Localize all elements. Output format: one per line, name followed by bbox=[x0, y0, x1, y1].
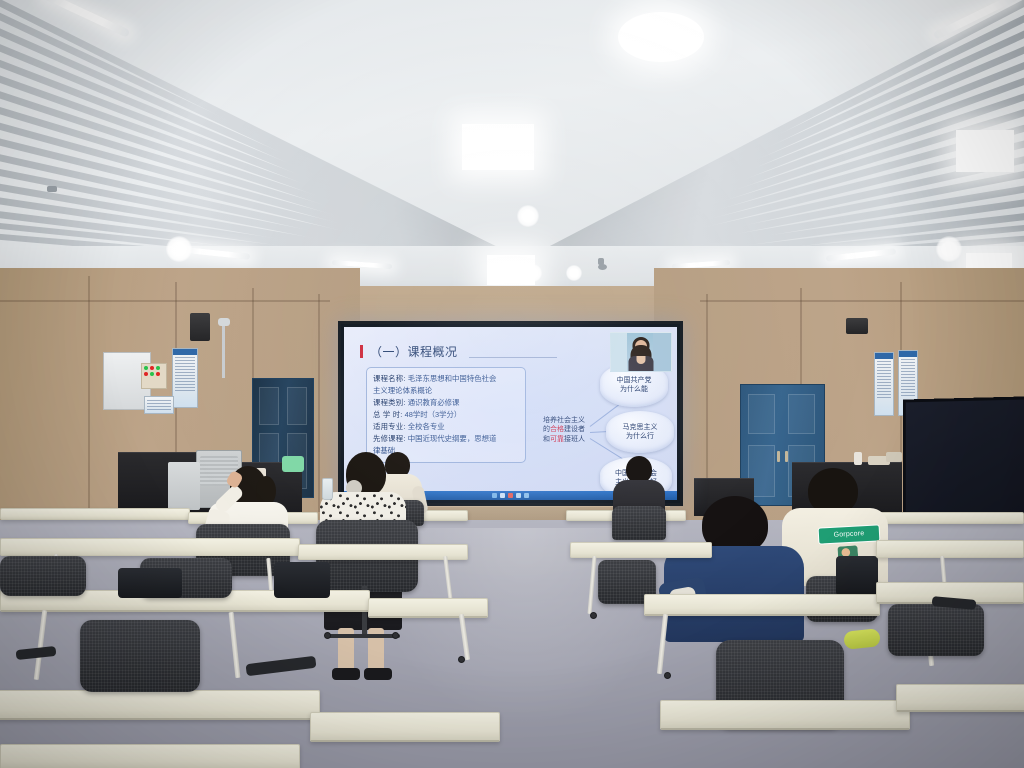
info-value: 毛泽东思想和中国特色社会 bbox=[408, 374, 497, 383]
folding-training-desk bbox=[0, 690, 320, 720]
folding-training-desk bbox=[0, 508, 190, 520]
person-head bbox=[626, 456, 652, 483]
mindmap-center-line: 和可靠接班人 bbox=[535, 435, 593, 444]
taskbar-icon[interactable] bbox=[516, 493, 521, 498]
pip-background-right bbox=[653, 333, 671, 371]
info-row: 先修课程: 中国近现代史纲要，思想道 bbox=[373, 433, 519, 445]
folding-training-desk bbox=[0, 744, 300, 768]
info-label: 课程类别: bbox=[373, 398, 406, 407]
led-red-icon bbox=[144, 372, 148, 376]
led-red-icon bbox=[156, 372, 160, 376]
course-info-card: 课程名称: 毛泽东思想和中国特色社会 主义理论体系概论 课程类别: 通识教育必修… bbox=[366, 367, 526, 463]
presenter-video-thumbnail[interactable] bbox=[610, 332, 672, 372]
sprinkler-icon bbox=[598, 258, 604, 265]
info-row: 课程类别: 通识教育必修课 bbox=[373, 397, 519, 409]
panel-light bbox=[956, 130, 1014, 172]
desk-caster bbox=[664, 672, 671, 679]
info-row: 适用专业: 全校各专业 bbox=[373, 421, 519, 433]
bubble-line: 中国共产党 bbox=[617, 377, 652, 384]
chair-caster bbox=[324, 632, 331, 639]
ceiling-sensor bbox=[47, 186, 57, 192]
info-value: 主义理论体系概论 bbox=[373, 386, 432, 395]
title-underline bbox=[469, 357, 557, 358]
mesh-task-chair[interactable] bbox=[612, 506, 666, 540]
downlight bbox=[517, 205, 539, 227]
panel-light bbox=[462, 124, 534, 170]
counter-item bbox=[886, 452, 902, 462]
folding-training-desk bbox=[870, 512, 1024, 524]
led-green-icon bbox=[156, 366, 160, 370]
bubble-line: 为什么行 bbox=[626, 433, 654, 440]
chair-base bbox=[328, 634, 400, 638]
info-row: 总 学 时: 48学时（3学分） bbox=[373, 409, 519, 421]
info-label: 适用专业: bbox=[373, 422, 406, 431]
classroom-photo: （一）课程概况 课程名称: 毛泽东思想和中国特色社会 主义理论体系概论 课程类别… bbox=[0, 0, 1024, 768]
desk-caster bbox=[458, 656, 465, 663]
wall-seam bbox=[700, 300, 1024, 302]
info-value: 全校各专业 bbox=[408, 422, 445, 431]
panel-light bbox=[618, 12, 704, 62]
mindmap-bubble: 马克思主义 为什么行 bbox=[606, 411, 674, 453]
door-handle-icon[interactable] bbox=[785, 451, 788, 462]
surveillance-camera-icon bbox=[218, 318, 230, 326]
title-marker-icon bbox=[360, 345, 363, 358]
chair-caster bbox=[392, 632, 399, 639]
bubble-line: 为什么能 bbox=[620, 386, 648, 393]
shirt-logo-badge: Gorpcore bbox=[818, 524, 881, 544]
highlight-word: 合格 bbox=[550, 426, 564, 433]
sign-body bbox=[145, 397, 173, 410]
downlight bbox=[936, 236, 962, 262]
highlight-word: 可靠 bbox=[550, 436, 564, 443]
downlight bbox=[166, 236, 192, 262]
mindmap-center-node: 培养社会主义 的合格建设者 和可靠接班人 bbox=[535, 416, 593, 444]
camera-pole bbox=[222, 318, 225, 378]
desk-caster bbox=[590, 612, 597, 619]
mesh-task-chair[interactable] bbox=[888, 604, 984, 656]
folding-training-desk bbox=[660, 700, 910, 730]
folding-training-desk bbox=[310, 712, 500, 742]
wall-poster bbox=[874, 352, 894, 416]
folding-training-desk bbox=[896, 684, 1024, 712]
mindmap-center-line: 的合格建设者 bbox=[535, 425, 593, 434]
equipment-cabinet bbox=[168, 462, 200, 510]
bubble-text: 中国共产党 为什么能 bbox=[617, 376, 652, 394]
student-front-right bbox=[664, 496, 804, 646]
backpack bbox=[836, 556, 878, 596]
bubble-text: 马克思主义 为什么行 bbox=[623, 423, 658, 441]
info-row: 课程名称: 毛泽东思想和中国特色社会 bbox=[373, 373, 519, 385]
folding-training-desk bbox=[876, 540, 1024, 558]
wall-seam bbox=[88, 276, 90, 516]
taskbar-icon[interactable] bbox=[524, 493, 529, 498]
wall-speaker bbox=[190, 313, 210, 341]
presenter-collar bbox=[637, 356, 646, 364]
sign-body bbox=[899, 357, 917, 396]
sign-body bbox=[875, 359, 893, 398]
counter-item bbox=[854, 452, 862, 465]
sign-body bbox=[173, 355, 197, 391]
folding-training-desk bbox=[0, 538, 300, 556]
pip-background-left bbox=[611, 333, 627, 371]
info-value: 中国近现代史纲要，思想道 bbox=[408, 434, 497, 443]
led-red-icon bbox=[150, 366, 154, 370]
wall-speaker bbox=[846, 318, 868, 334]
folding-training-desk bbox=[368, 598, 488, 618]
led-green-icon bbox=[144, 366, 148, 370]
mesh-task-chair[interactable] bbox=[80, 620, 200, 692]
info-value: 48学时（3学分） bbox=[405, 410, 462, 419]
downlight bbox=[524, 264, 542, 282]
taskbar-icon[interactable] bbox=[508, 493, 513, 498]
folding-training-desk bbox=[570, 542, 712, 558]
interactive-flat-panel-display[interactable] bbox=[903, 396, 1024, 517]
ceiling bbox=[0, 0, 1024, 300]
info-label: 课程名称: bbox=[373, 374, 406, 383]
led-green-icon bbox=[150, 372, 154, 376]
wall-label-plate bbox=[144, 396, 174, 414]
mesh-task-chair[interactable] bbox=[0, 556, 86, 596]
info-value: 通识教育必修课 bbox=[408, 398, 460, 407]
slide-title: （一）课程概况 bbox=[370, 343, 458, 360]
mindmap-center-line: 培养社会主义 bbox=[535, 416, 593, 425]
info-label: 总 学 时: bbox=[373, 410, 403, 419]
bag bbox=[118, 568, 182, 598]
sandal-icon bbox=[332, 668, 360, 680]
indicator-led-cluster bbox=[141, 363, 167, 389]
wall-seam bbox=[0, 300, 330, 302]
taskbar-icon[interactable] bbox=[500, 493, 505, 498]
downlight bbox=[566, 265, 582, 281]
wall-notice-sign bbox=[172, 348, 198, 408]
bag bbox=[274, 562, 330, 598]
door-handle-icon[interactable] bbox=[777, 451, 780, 462]
info-row: 主义理论体系概论 bbox=[373, 385, 519, 397]
info-label: 先修课程: bbox=[373, 434, 406, 443]
sandal-icon bbox=[364, 668, 392, 680]
folding-training-desk bbox=[644, 594, 880, 616]
bubble-line: 马克思主义 bbox=[623, 424, 658, 431]
taskbar-icon[interactable] bbox=[492, 493, 497, 498]
drink-cup bbox=[322, 478, 333, 500]
